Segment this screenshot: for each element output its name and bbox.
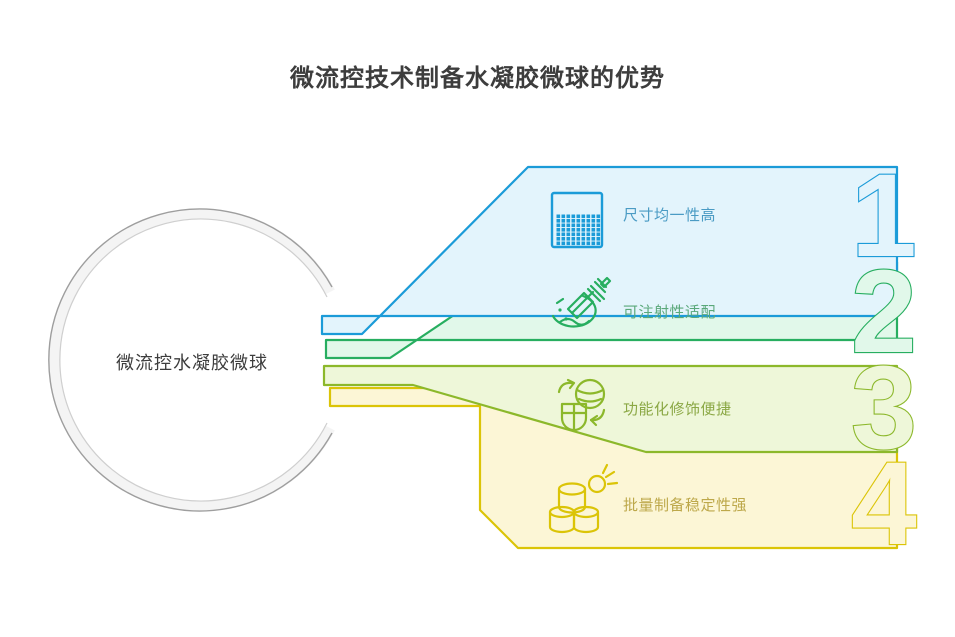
band-number-4: 4	[851, 438, 917, 570]
band-shape-1[interactable]	[322, 167, 897, 334]
band-label-4: 批量制备稳定性强	[623, 494, 747, 515]
band-label-2: 可注射性适配	[623, 301, 716, 322]
funnel-diagram: 1 2 3 4	[0, 0, 955, 637]
band-group-3[interactable]	[324, 366, 897, 452]
band-shape-3[interactable]	[324, 366, 897, 452]
band-number-group: 1 2 3 4	[851, 150, 917, 570]
infographic-canvas: 微流控技术制备水凝胶微球的优势 1 2 3 4	[0, 0, 955, 637]
band-group-1[interactable]	[322, 167, 897, 334]
band-label-3: 功能化修饰便捷	[623, 398, 732, 419]
band-label-1: 尺寸均一性高	[623, 204, 716, 225]
hub-label: 微流控水凝胶微球	[47, 349, 337, 375]
